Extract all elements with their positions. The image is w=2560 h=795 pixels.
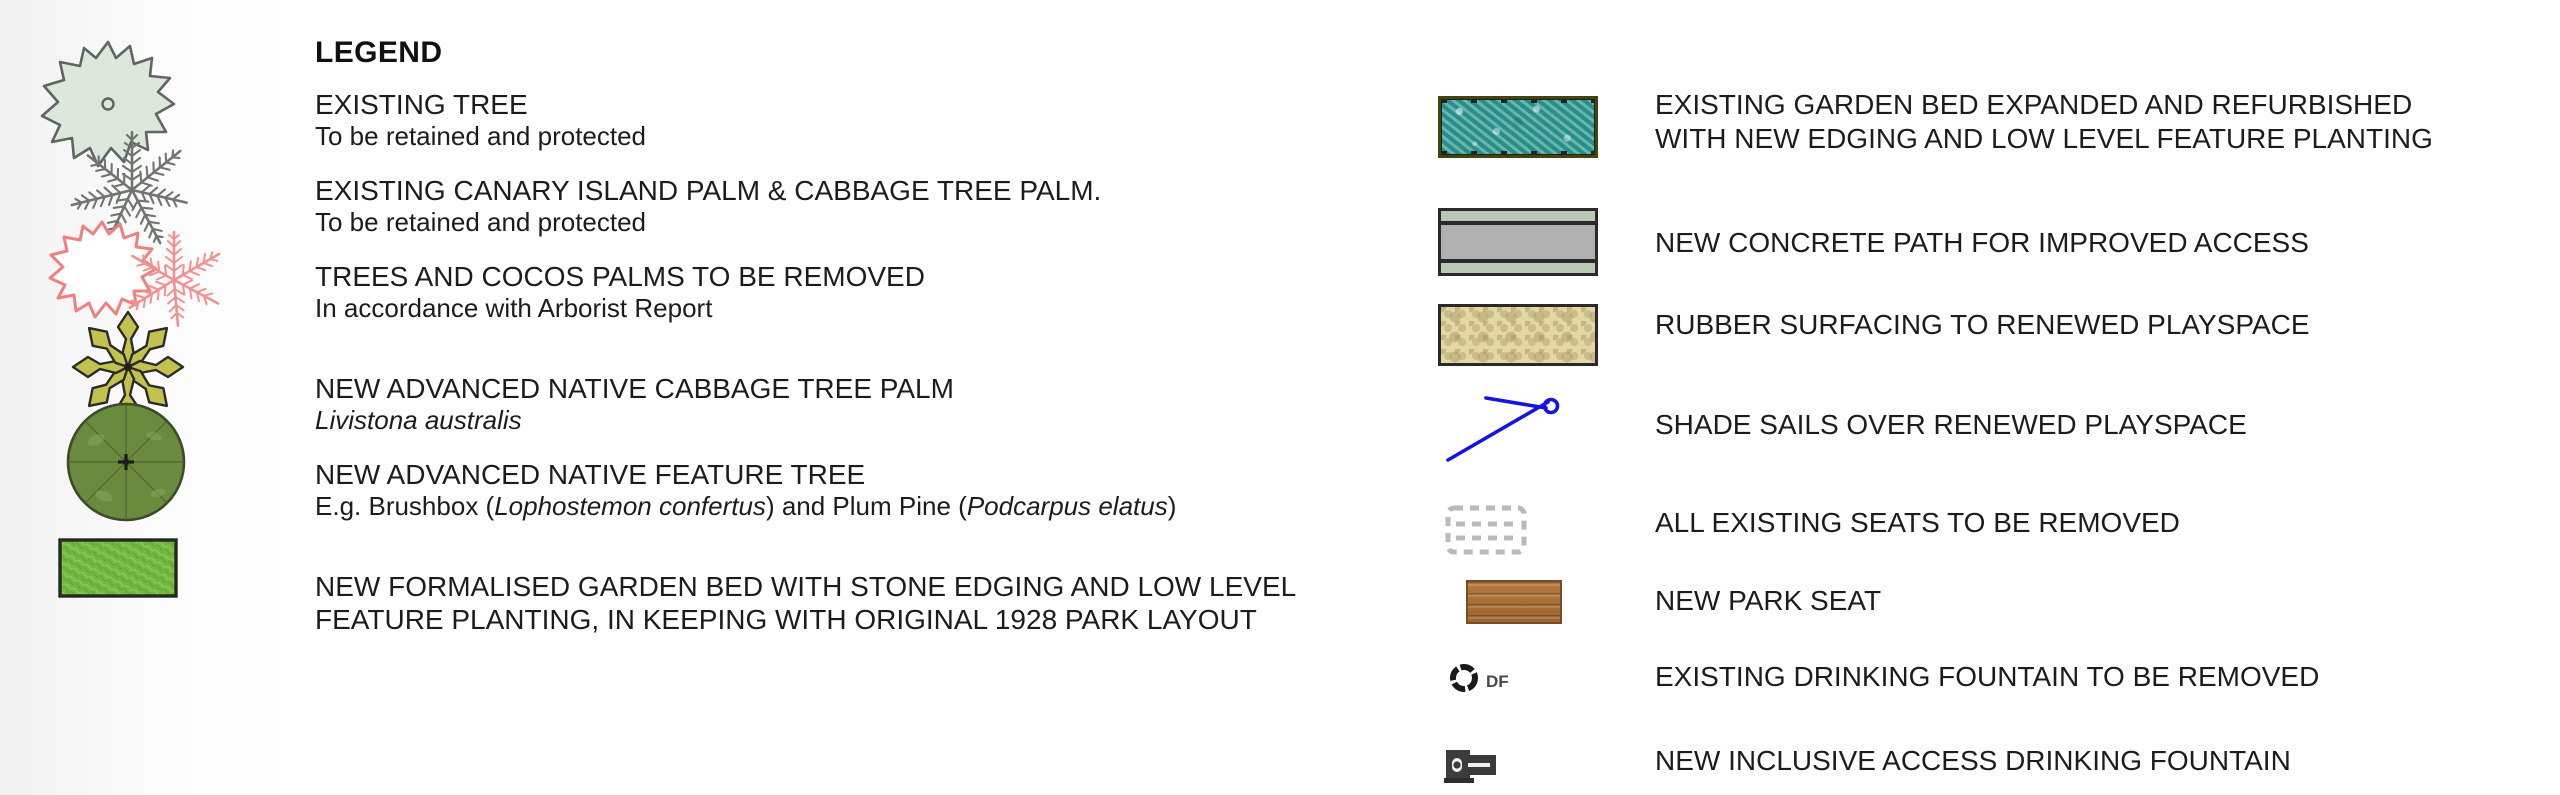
new-park-seat-symbol (1466, 580, 1562, 624)
legend-entry-new-garden-bed: NEW FORMALISED GARDEN BED WITH STONE EDG… (315, 570, 1296, 636)
legend-entry-title: SHADE SAILS OVER RENEWED PLAYSPACE (1655, 408, 2247, 442)
legend-entry-shade-sails: SHADE SAILS OVER RENEWED PLAYSPACE (1655, 408, 2247, 442)
legend-entry-new-cabbage-palm: NEW ADVANCED NATIVE CABBAGE TREE PALM Li… (315, 372, 954, 436)
legend-entry-title: RUBBER SURFACING TO RENEWED PLAYSPACE (1655, 308, 2310, 342)
legend-entry-rubber-surfacing: RUBBER SURFACING TO RENEWED PLAYSPACE (1655, 308, 2310, 342)
legend-entry-subtitle: To be retained and protected (315, 121, 646, 152)
path-edge-band-bottom (1441, 259, 1595, 273)
legend-entry-subtitle: Livistona australis (315, 405, 954, 436)
legend-entry-title: EXISTING GARDEN BED EXPANDED AND REFURBI… (1655, 88, 2433, 122)
df-label: DF (1486, 672, 1509, 691)
left-text-column: LEGEND EXISTING TREE To be retained and … (315, 38, 1375, 99)
legend-panel: LEGEND EXISTING TREE To be retained and … (0, 0, 2560, 795)
legend-entry-title: EXISTING CANARY ISLAND PALM & CABBAGE TR… (315, 174, 1101, 207)
legend-entry-subtitle: In accordance with Arborist Report (315, 293, 925, 324)
legend-entry-title: EXISTING TREE (315, 88, 646, 121)
legend-entry-new-fountain: NEW INCLUSIVE ACCESS DRINKING FOUNTAIN (1655, 744, 2291, 778)
legend-entry-title: NEW FORMALISED GARDEN BED WITH STONE EDG… (315, 570, 1296, 603)
legend-entry-title: NEW ADVANCED NATIVE FEATURE TREE (315, 458, 1176, 491)
legend-entry-subtitle: FEATURE PLANTING, IN KEEPING WITH ORIGIN… (315, 603, 1296, 636)
existing-seat-removal-symbol (1438, 500, 1598, 560)
legend-entry-title: ALL EXISTING SEATS TO BE REMOVED (1655, 506, 2180, 540)
left-symbol-stack (28, 38, 278, 778)
legend-entry-existing-garden-bed: EXISTING GARDEN BED EXPANDED AND REFURBI… (1655, 88, 2433, 155)
legend-entry-existing-tree: EXISTING TREE To be retained and protect… (315, 88, 646, 152)
legend-entry-subtitle: WITH NEW EDGING AND LOW LEVEL FEATURE PL… (1655, 122, 2433, 156)
legend-entry-title: NEW ADVANCED NATIVE CABBAGE TREE PALM (315, 372, 954, 405)
legend-entry-subtitle: E.g. Brushbox (Lophostemon confertus) an… (315, 491, 1176, 522)
drinking-fountain-removal-symbol: DF (1438, 656, 1598, 700)
legend-entry-new-feature-tree: NEW ADVANCED NATIVE FEATURE TREE E.g. Br… (315, 458, 1176, 522)
legend-entry-title: TREES AND COCOS PALMS TO BE REMOVED (315, 260, 925, 293)
rubber-surfacing-swatch (1438, 304, 1598, 366)
legend-entry-title: NEW PARK SEAT (1655, 584, 1881, 618)
page-title: LEGEND (315, 38, 1375, 68)
existing-garden-bed-swatch (1438, 96, 1598, 158)
legend-entry-title: NEW CONCRETE PATH FOR IMPROVED ACCESS (1655, 226, 2309, 260)
concrete-path-swatch (1438, 208, 1598, 276)
inclusive-drinking-fountain-symbol (1438, 742, 1598, 788)
new-feature-tree-symbol (62, 398, 190, 526)
legend-entry-tree-removal: TREES AND COCOS PALMS TO BE REMOVED In a… (315, 260, 925, 324)
legend-entry-subtitle: To be retained and protected (315, 207, 1101, 238)
legend-entry-new-park-seat: NEW PARK SEAT (1655, 584, 1881, 618)
path-edge-band-top (1441, 211, 1595, 225)
legend-entry-existing-palm: EXISTING CANARY ISLAND PALM & CABBAGE TR… (315, 174, 1101, 238)
legend-entry-concrete-path: NEW CONCRETE PATH FOR IMPROVED ACCESS (1655, 226, 2309, 260)
legend-entry-title: NEW INCLUSIVE ACCESS DRINKING FOUNTAIN (1655, 744, 2291, 778)
shade-sail-symbol (1438, 392, 1598, 468)
legend-entry-fountain-removal: EXISTING DRINKING FOUNTAIN TO BE REMOVED (1655, 660, 2319, 694)
legend-entry-seat-removal: ALL EXISTING SEATS TO BE REMOVED (1655, 506, 2180, 540)
legend-entry-title: EXISTING DRINKING FOUNTAIN TO BE REMOVED (1655, 660, 2319, 694)
new-garden-bed-symbol (58, 538, 178, 598)
